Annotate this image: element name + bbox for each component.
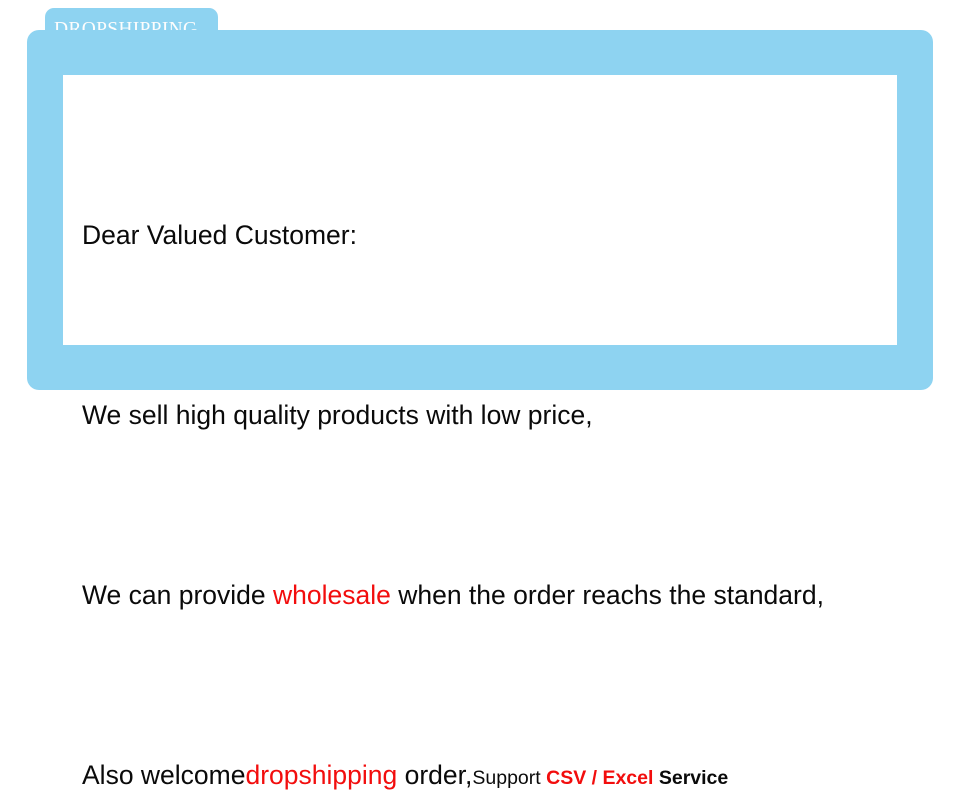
wholesale-prefix: We can provide: [82, 580, 273, 610]
dropshipping-keyword: dropshipping: [245, 760, 397, 790]
wholesale-suffix: when the order reachs the standard,: [391, 580, 824, 610]
message-line-wholesale: We can provide wholesale when the order …: [82, 573, 912, 618]
tab-frame-joint: [45, 30, 218, 48]
csv-excel-keyword: CSV / Excel: [546, 767, 653, 789]
service-label: Service: [653, 767, 728, 789]
greeting-text: Dear Valued Customer:: [82, 220, 357, 250]
message-line-dropshipping: Also welcomedropshipping order,Support C…: [82, 753, 912, 798]
support-label: Support: [472, 767, 546, 789]
quality-text: We sell high quality products with low p…: [82, 400, 593, 430]
dropshipping-prefix: Also welcome: [82, 760, 245, 790]
customer-message: Dear Valued Customer: We sell high quali…: [82, 78, 912, 800]
wholesale-keyword: wholesale: [273, 580, 391, 610]
dropshipping-banner: DROPSHIPPING Dear Valued Customer: We se…: [0, 0, 960, 400]
dropshipping-suffix: order,: [397, 760, 472, 790]
message-line-greeting: Dear Valued Customer:: [82, 213, 912, 258]
